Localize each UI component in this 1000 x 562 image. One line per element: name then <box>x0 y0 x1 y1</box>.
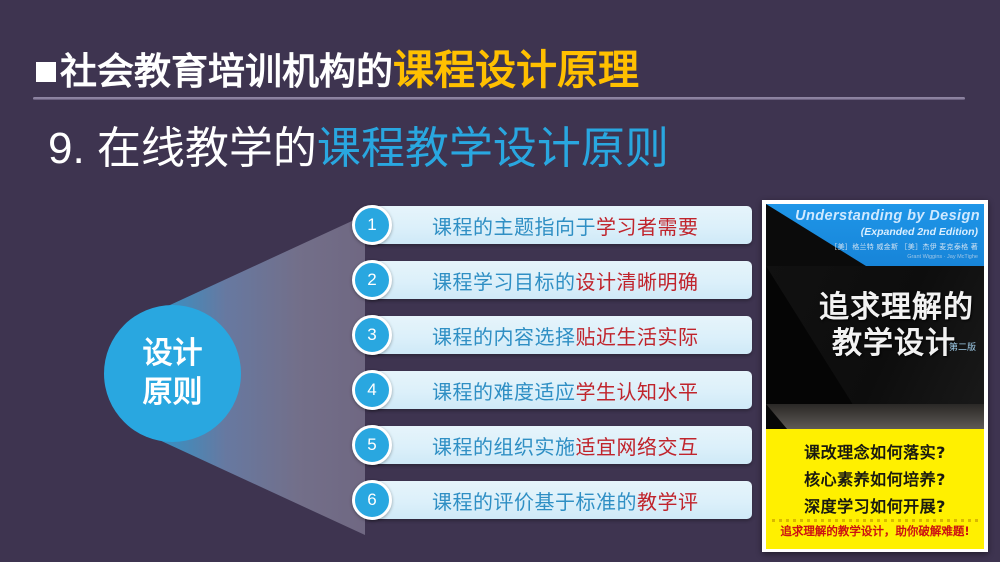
book-banner-tagline: 追求理解的教学设计，助你破解难题! <box>766 523 984 539</box>
page-title-gold: 课程设计原理 <box>393 36 639 96</box>
principle-text-red: 学习者需要 <box>596 217 699 239</box>
header-divider <box>33 97 965 100</box>
principles-list: 课程的主题指向于学习者需要 1 课程学习目标的设计清晰明确 2 课程的内容选择贴… <box>352 206 752 536</box>
principle-text: 课程的内容选择贴近生活实际 <box>432 321 699 350</box>
list-item[interactable]: 课程的评价基于标准的教学评 6 <box>352 481 752 519</box>
book-cover-image: Understanding by Design (Expanded 2nd Ed… <box>762 200 988 552</box>
principle-number-badge[interactable]: 1 <box>352 205 392 245</box>
principle-text: 课程的组织实施适宜网络交互 <box>432 431 699 460</box>
book-banner-line-1: 课改理念如何落实? <box>766 439 984 463</box>
principle-text-blue: 课程的评价基于标准的 <box>432 492 637 514</box>
subtitle-blue: 课程教学设计原则 <box>317 124 669 173</box>
book-banner-line-3: 深度学习如何开展? <box>766 493 984 517</box>
book-yellow-band: 课改理念如何落实? 核心素养如何培养? 深度学习如何开展? 追求理解的教学设计，… <box>766 429 984 549</box>
list-item[interactable]: 课程的主题指向于学习者需要 1 <box>352 206 752 244</box>
hub-circle: 设计 原则 <box>104 305 241 442</box>
principle-text-blue: 课程的组织实施 <box>432 437 576 459</box>
principle-text: 课程的评价基于标准的教学评 <box>432 486 699 515</box>
principle-text-red: 适宜网络交互 <box>576 437 699 459</box>
principle-text-red: 设计清晰明确 <box>576 272 699 294</box>
book-banner-dotted-rule <box>772 519 978 522</box>
principle-number-badge[interactable]: 5 <box>352 425 392 465</box>
book-authors-cn: ［美］格兰特 威金斯 ［美］杰伊 麦克泰格 著 <box>766 242 978 252</box>
principle-bar[interactable]: 课程学习目标的设计清晰明确 <box>366 261 752 299</box>
book-edition-mark: 第二版 <box>949 340 976 353</box>
hub-label-line2: 原则 <box>143 374 203 412</box>
principle-number-badge[interactable]: 3 <box>352 315 392 355</box>
principle-text-blue: 课程的内容选择 <box>432 327 576 349</box>
principle-bar[interactable]: 课程的内容选择贴近生活实际 <box>366 316 752 354</box>
section-subtitle: 9. 在线教学的课程教学设计原则 <box>48 112 669 176</box>
principle-text-red: 学生认知水平 <box>576 382 699 404</box>
book-chinese-title-line2: 教学设计 <box>832 318 956 362</box>
principle-text-blue: 课程的主题指向于 <box>432 217 596 239</box>
slide-canvas: 社会教育培训机构的 课程设计原理 9. 在线教学的课程教学设计原则 设计 原则 … <box>0 0 1000 562</box>
principle-text: 课程的主题指向于学习者需要 <box>432 211 699 240</box>
list-item[interactable]: 课程的组织实施适宜网络交互 5 <box>352 426 752 464</box>
hub-label-line1: 设计 <box>143 335 203 373</box>
book-english-title: Understanding by Design <box>766 208 980 224</box>
principle-bar[interactable]: 课程的难度适应学生认知水平 <box>366 371 752 409</box>
book-english-subtitle: (Expanded 2nd Edition) <box>766 226 978 238</box>
list-item[interactable]: 课程的内容选择贴近生活实际 3 <box>352 316 752 354</box>
page-title-white: 社会教育培训机构的 <box>60 41 393 95</box>
principle-text-blue: 课程的难度适应 <box>432 382 576 404</box>
page-title: 社会教育培训机构的 课程设计原理 <box>36 36 639 96</box>
book-cover-inner: Understanding by Design (Expanded 2nd Ed… <box>766 204 984 549</box>
principle-text-red: 教学评 <box>637 492 699 514</box>
principle-text-red: 贴近生活实际 <box>576 327 699 349</box>
principle-text: 课程学习目标的设计清晰明确 <box>432 266 699 295</box>
square-bullet-icon <box>36 62 56 82</box>
subtitle-white: 9. 在线教学的 <box>48 124 317 173</box>
principle-text-blue: 课程学习目标的 <box>432 272 576 294</box>
principle-number-badge[interactable]: 2 <box>352 260 392 300</box>
principle-number-badge[interactable]: 4 <box>352 370 392 410</box>
book-banner-line-2: 核心素养如何培养? <box>766 466 984 490</box>
principle-bar[interactable]: 课程的组织实施适宜网络交互 <box>366 426 752 464</box>
principle-text: 课程的难度适应学生认知水平 <box>432 376 699 405</box>
list-item[interactable]: 课程学习目标的设计清晰明确 2 <box>352 261 752 299</box>
principle-number-badge[interactable]: 6 <box>352 480 392 520</box>
principle-bar[interactable]: 课程的主题指向于学习者需要 <box>366 206 752 244</box>
list-item[interactable]: 课程的难度适应学生认知水平 4 <box>352 371 752 409</box>
book-authors-en: Grant Wiggins · Jay McTighe <box>766 254 978 260</box>
principle-bar[interactable]: 课程的评价基于标准的教学评 <box>366 481 752 519</box>
